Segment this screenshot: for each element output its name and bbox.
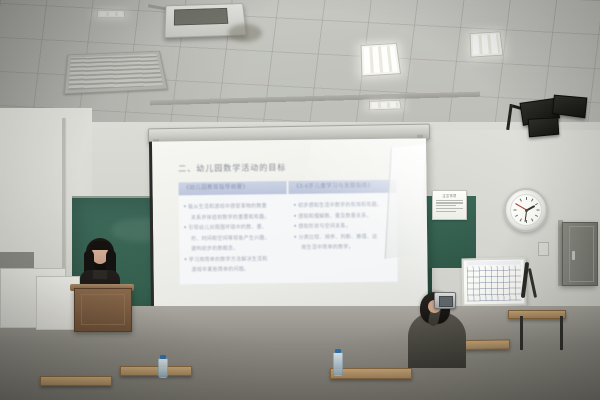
clock-hour-hand [526, 205, 535, 211]
projector-shadow [228, 24, 262, 42]
audience [0, 270, 600, 400]
grid-board-header [467, 261, 521, 266]
ceiling-light-panel [369, 100, 402, 110]
notice-heading: 注意事项 [435, 193, 464, 198]
clock-center-pin [525, 209, 528, 212]
notice-line [436, 200, 463, 201]
ceiling-light-panel [470, 31, 504, 57]
wall-speaker-icon [528, 117, 560, 137]
slide-table-header-cell: 《幼儿园教育指导纲要》 [178, 181, 286, 195]
slide-table-column-left: 能从生活和游戏中感受事物的数量 关系并体验到数学的重要和有趣。 引导幼儿对周围环… [179, 201, 288, 276]
projector-lens [174, 8, 228, 26]
clock-face [510, 194, 542, 226]
notice-line [436, 208, 463, 209]
wall-outlet-box [538, 242, 549, 256]
wall-clock-icon [504, 188, 548, 232]
notice-line [436, 205, 456, 206]
ceiling-light-panel [97, 10, 126, 18]
notice-line [436, 202, 463, 203]
wall-notice-sign: 注意事项 [432, 190, 467, 220]
wall-dark-strip [0, 252, 34, 268]
cabinet-handle [572, 251, 575, 260]
ceiling-air-vent-icon [64, 51, 168, 95]
notice-line [436, 211, 456, 212]
presenter-fringe [90, 241, 110, 250]
ceiling-light-panel [361, 43, 401, 76]
classroom-photo: 二、幼儿园数学活动的目标 《幼儿园教育指导纲要》 《3-6岁儿童学习与发展指南》… [0, 0, 600, 400]
